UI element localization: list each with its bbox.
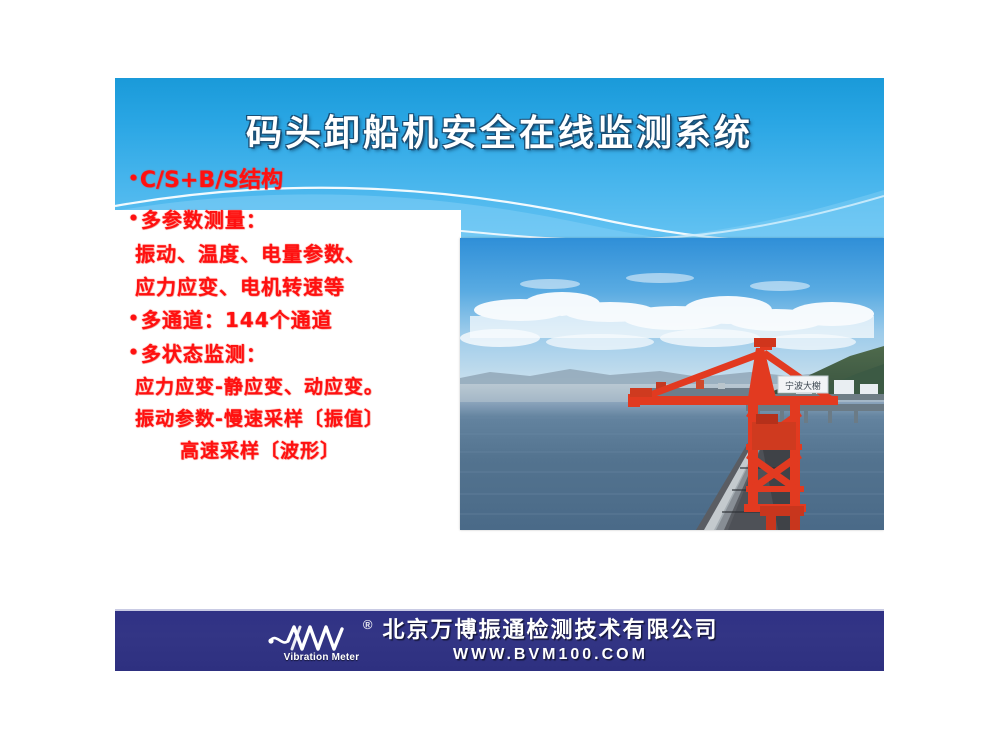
bullet-text: 应力应变-静应变、动应变。 [135, 376, 384, 398]
bullet-item-state-1: 应力应变-静应变、动应变。 [128, 378, 473, 397]
bullet-text: 振动、温度、电量参数、 [135, 242, 366, 266]
company-name: 北京万博振通检测技术有限公司 [382, 620, 718, 642]
logo-caption: Vibration Meter [272, 652, 370, 663]
bullet-dot-icon: • [128, 309, 141, 329]
bullet-text: 多通道：144个通道 [141, 308, 333, 332]
photo-artwork: 宁波大榭 [460, 238, 884, 530]
bullet-text: 高速采样〔波形〕 [180, 440, 340, 462]
bullet-text: 应力应变、电机转速等 [135, 275, 345, 299]
bullet-item-arch: •C/S+B/S结构 [128, 170, 473, 192]
bullet-dot-icon: • [128, 209, 141, 229]
bullet-dot-icon: • [128, 169, 140, 189]
bullet-item-params-2: 应力应变、电机转速等 [128, 277, 473, 297]
bullet-item-multi-param: •多参数测量： [128, 210, 473, 231]
company-website[interactable]: WWW.BVM100.COM [453, 647, 648, 663]
registered-trademark-icon: ® [363, 618, 373, 631]
bullet-text: 振动参数-慢速采样〔振值〕 [135, 408, 384, 430]
slide-body: 码头卸船机安全在线监测系统 •C/S+B/S结构 •多参数测量： 振动、温度、电… [115, 78, 884, 538]
bullet-text: C/S+B/S结构 [140, 168, 283, 193]
bullet-item-channels: •多通道：144个通道 [128, 310, 473, 331]
bullet-list: •C/S+B/S结构 •多参数测量： 振动、温度、电量参数、 应力应变、电机转速… [128, 170, 473, 474]
bullet-text: 多参数测量： [141, 208, 267, 232]
bullet-item-state-3: 高速采样〔波形〕 [128, 442, 473, 461]
bullet-dot-icon: • [128, 343, 141, 363]
footer-bar: ® Vibration Meter 北京万博振通检测技术有限公司 WWW.BVM… [115, 609, 884, 671]
bullet-item-state-2: 振动参数-慢速采样〔振值〕 [128, 410, 473, 429]
bullet-item-multi-state: •多状态监测： [128, 344, 473, 365]
bullet-text: 多状态监测： [141, 342, 267, 366]
company-logo: ® Vibration Meter [266, 619, 370, 663]
slide-title: 码头卸船机安全在线监测系统 [115, 104, 884, 156]
svg-text:宁波大榭: 宁波大榭 [785, 380, 821, 392]
bullet-item-params-1: 振动、温度、电量参数、 [128, 244, 473, 264]
port-ship-unloader-photo: 宁波大榭 [460, 238, 884, 530]
slide-canvas: 码头卸船机安全在线监测系统 •C/S+B/S结构 •多参数测量： 振动、温度、电… [0, 0, 1000, 750]
